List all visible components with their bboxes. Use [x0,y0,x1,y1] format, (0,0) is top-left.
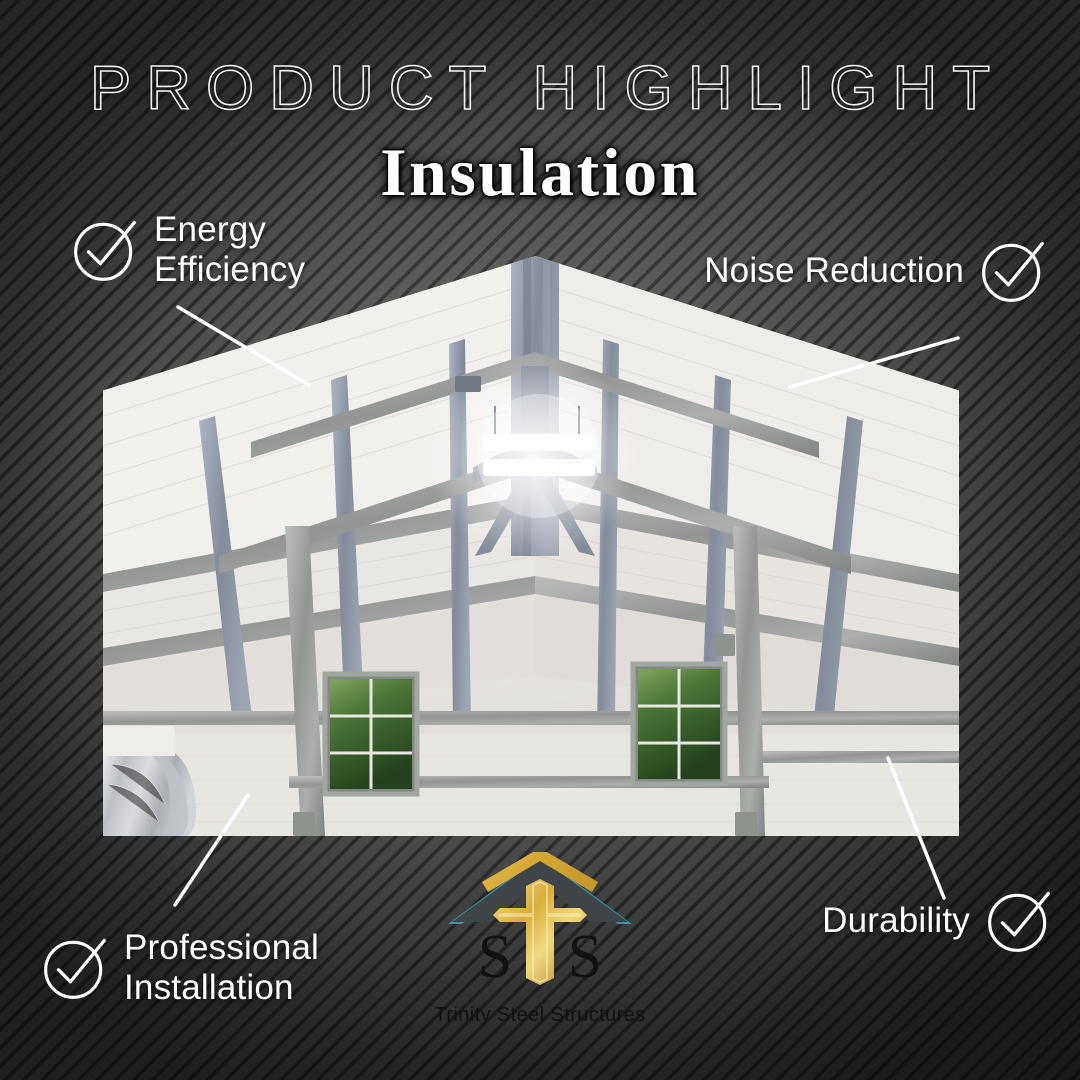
feature-label: Noise Reduction [704,251,964,291]
feature-label: Professional Installation [124,928,319,1009]
feature-professional-installation: Professional Installation [42,928,319,1009]
check-circle-icon [42,935,108,1001]
feature-energy-efficiency: Energy Efficiency [72,210,305,291]
logo-initial-right: S [568,923,602,991]
logo-wordmark: Trinity Steel Structures [425,1004,655,1027]
check-circle-icon [980,238,1046,304]
page-title: Insulation [0,135,1080,210]
check-circle-icon [72,217,138,283]
logo-initial-left: S [478,923,512,991]
feature-durability: Durability [822,888,1052,954]
check-circle-icon [986,888,1052,954]
feature-label: Durability [822,901,970,941]
feature-noise-reduction: Noise Reduction [704,238,1046,304]
logo-mark-icon: S S [440,852,640,1002]
product-highlight-poster: PRODUCT HIGHLIGHT Insulation [0,0,1080,1080]
kicker-text: PRODUCT HIGHLIGHT [0,58,1080,120]
feature-label: Energy Efficiency [154,210,305,291]
brand-logo: S S Trinity Steel Structures [425,852,655,1027]
